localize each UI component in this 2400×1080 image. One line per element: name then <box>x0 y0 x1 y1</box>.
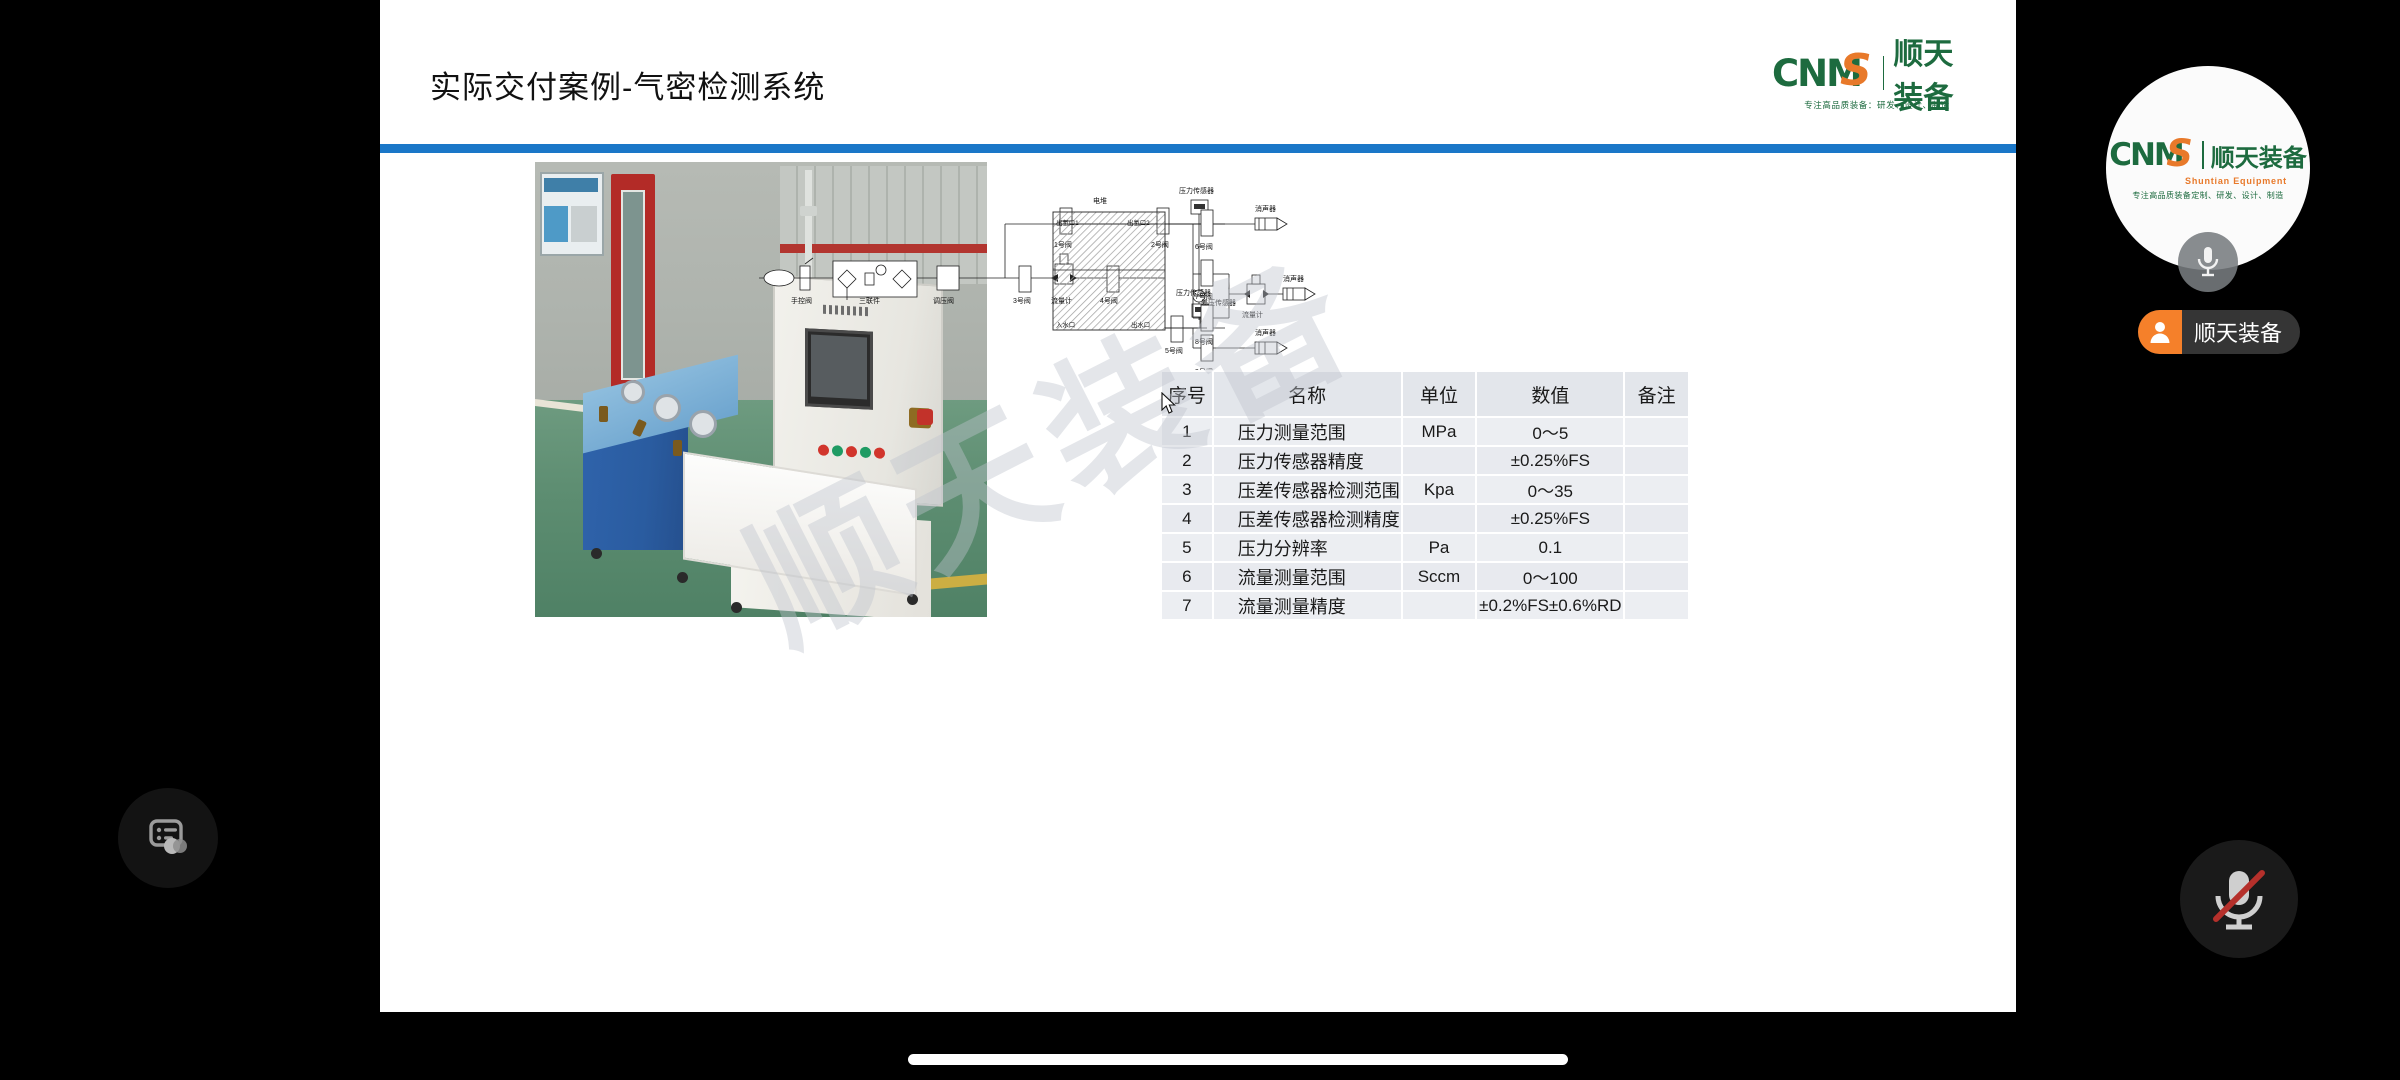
cell-value: 0～100 <box>1476 562 1624 591</box>
cell-remark <box>1624 475 1689 504</box>
cell-unit: Sccm <box>1402 562 1477 591</box>
cell-value: ±0.25%FS <box>1476 504 1624 533</box>
logo-divider <box>1883 56 1884 90</box>
logo-accent-s: S <box>1840 49 1870 93</box>
cell-unit: Pa <box>1402 533 1477 562</box>
cell-name: 压差传感器检测范围 <box>1213 475 1402 504</box>
table-row: 6 流量测量范围 Sccm 0～100 <box>1161 562 1689 591</box>
cell-name: 压力分辨率 <box>1213 533 1402 562</box>
specification-table: 序号 名称 单位 数值 备注 1 压力测量范围 MPa 0～5 2 压力传感器 <box>1160 370 1690 621</box>
presentation-slide[interactable]: 实际交付案例-气密检测系统 CNMS 顺天装备 专注高品质装备：研发、设计、制造 <box>380 0 2016 1012</box>
cell-no: 4 <box>1161 504 1213 533</box>
person-icon <box>2138 310 2182 354</box>
cell-value: ±0.2%FS±0.6%RD <box>1476 591 1624 620</box>
cell-name: 流量测量范围 <box>1213 562 1402 591</box>
table-row: 3 压差传感器检测范围 Kpa 0～35 <box>1161 475 1689 504</box>
col-header-remark: 备注 <box>1624 371 1689 417</box>
microphone-muted-icon[interactable] <box>2180 840 2298 958</box>
cell-remark <box>1624 446 1689 475</box>
cell-value: 0～5 <box>1476 417 1624 446</box>
cell-name: 压差传感器检测精度 <box>1213 504 1402 533</box>
cell-unit: MPa <box>1402 417 1477 446</box>
avatar-logo-mark: CNMS <box>2109 140 2183 171</box>
cell-name: 流量测量精度 <box>1213 591 1402 620</box>
company-logo: CNMS 顺天装备 专注高品质装备：研发、设计、制造 <box>1772 50 1982 118</box>
cell-remark <box>1624 562 1689 591</box>
avatar-logo-tagline: 专注高品质装备定制、研发、设计、制造 <box>2132 190 2283 201</box>
cell-no: 3 <box>1161 475 1213 504</box>
logo-mark-text: CNMS <box>1772 55 1861 92</box>
cell-remark <box>1624 591 1689 620</box>
cell-no: 2 <box>1161 446 1213 475</box>
cell-unit <box>1402 446 1477 475</box>
cell-remark <box>1624 533 1689 562</box>
cell-no: 7 <box>1161 591 1213 620</box>
participant-name-chip: 顺天装备 <box>2138 310 2300 354</box>
cell-name: 压力传感器精度 <box>1213 446 1402 475</box>
avatar-logo-divider <box>2202 141 2204 169</box>
home-indicator <box>908 1054 1568 1065</box>
table-row: 4 压差传感器检测精度 ±0.25%FS <box>1161 504 1689 533</box>
cell-unit: Kpa <box>1402 475 1477 504</box>
table-row: 5 压力分辨率 Pa 0.1 <box>1161 533 1689 562</box>
title-divider-rule <box>380 144 2016 153</box>
cell-no: 1 <box>1161 417 1213 446</box>
participant-name: 顺天装备 <box>2194 316 2282 348</box>
col-header-name: 名称 <box>1213 371 1402 417</box>
meeting-screen-share-view: 实际交付案例-气密检测系统 CNMS 顺天装备 专注高品质装备：研发、设计、制造 <box>0 0 2400 1080</box>
chat-list-icon[interactable] <box>118 788 218 888</box>
avatar-logo-sub: Shuntian Equipment <box>2185 176 2287 186</box>
cell-name: 压力测量范围 <box>1213 417 1402 446</box>
table-row: 1 压力测量范围 MPa 0～5 <box>1161 417 1689 446</box>
schematic-overlay <box>755 178 1325 393</box>
cell-no: 5 <box>1161 533 1213 562</box>
table-header-row: 序号 名称 单位 数值 备注 <box>1161 371 1689 417</box>
cell-no: 6 <box>1161 562 1213 591</box>
mouse-cursor <box>1161 392 1178 420</box>
col-header-value: 数值 <box>1476 371 1624 417</box>
participant-video-tile[interactable]: CNMS 顺天装备 Shuntian Equipment 专注高品质装备定制、研… <box>2106 66 2310 270</box>
avatar-logo-name: 顺天装备 <box>2211 138 2307 173</box>
cell-value: 0.1 <box>1476 533 1624 562</box>
page-title: 实际交付案例-气密检测系统 <box>430 62 825 107</box>
cell-remark <box>1624 504 1689 533</box>
table-row: 2 压力传感器精度 ±0.25%FS <box>1161 446 1689 475</box>
cell-unit <box>1402 504 1477 533</box>
avatar-logo-accent-s: S <box>2166 135 2191 172</box>
cell-remark <box>1624 417 1689 446</box>
col-header-unit: 单位 <box>1402 371 1477 417</box>
cell-unit <box>1402 591 1477 620</box>
microphone-icon <box>2178 232 2238 292</box>
cell-value: ±0.25%FS <box>1476 446 1624 475</box>
table-row: 7 流量测量精度 ±0.2%FS±0.6%RD <box>1161 591 1689 620</box>
cell-value: 0～35 <box>1476 475 1624 504</box>
